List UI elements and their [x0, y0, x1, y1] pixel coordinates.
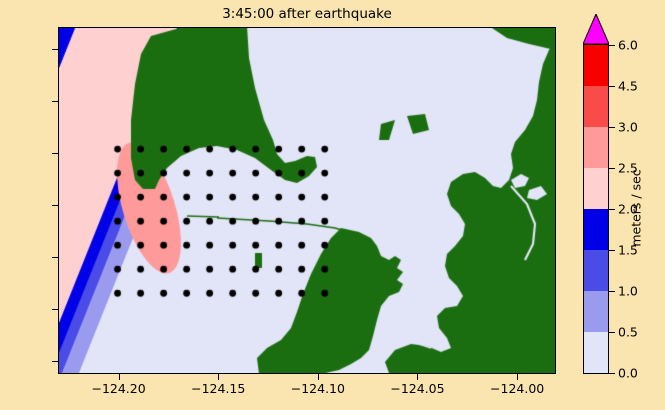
colorbar-tick-label: 0.0 [618, 366, 638, 381]
colorbar-band [584, 209, 608, 250]
colorbar-band [584, 45, 608, 86]
colorbar-tick-label: 4.5 [618, 79, 638, 94]
x-tick-label: −124.20 [91, 381, 145, 396]
y-tick-mark [52, 257, 58, 258]
colorbar-over-triangle-icon [583, 14, 609, 44]
x-tick-label: −124.10 [291, 381, 345, 396]
colorbar-tick-mark [609, 332, 615, 333]
y-tick-mark [52, 153, 58, 154]
colorbar-band [584, 86, 608, 127]
x-tick-mark [417, 374, 418, 380]
colorbar-band [584, 250, 608, 291]
colorbar-tick-mark [609, 209, 615, 210]
colorbar-tick-label: 1.0 [618, 284, 638, 299]
x-tick-mark [517, 374, 518, 380]
y-tick-mark [52, 205, 58, 206]
colorbar-band [584, 168, 608, 209]
page-title: 3:45:00 after earthquake [58, 4, 556, 24]
y-tick-mark [52, 101, 58, 102]
colorbar-tick-mark [609, 168, 615, 169]
y-tick-mark [52, 309, 58, 310]
tsunami-speed-map [59, 28, 555, 373]
colorbar-title: meters / sec [629, 169, 644, 246]
colorbar-tick-mark [609, 291, 615, 292]
x-tick-mark [119, 374, 120, 380]
colorbar-over-arrow [583, 14, 609, 44]
colorbar-tick-mark [609, 127, 615, 128]
colorbar-tick-mark [609, 45, 615, 46]
figure-canvas: 3:45:00 after earthquake 46.8646.8846.90… [0, 0, 665, 410]
x-tick-mark [218, 374, 219, 380]
y-tick-mark [52, 361, 58, 362]
colorbar-band [584, 127, 608, 168]
x-tick-label: −124.15 [191, 381, 245, 396]
x-tick-mark [318, 374, 319, 380]
colorbar-tick-label: 3.0 [618, 120, 638, 135]
y-tick-mark [52, 49, 58, 50]
map-axes[interactable] [58, 27, 556, 374]
colorbar-tick-label: 6.0 [618, 38, 638, 53]
colorbar[interactable] [583, 44, 609, 374]
colorbar-tick-label: 0.5 [618, 325, 638, 340]
x-tick-label: −124.00 [490, 381, 544, 396]
colorbar-tick-mark [609, 250, 615, 251]
colorbar-band [584, 332, 608, 373]
x-tick-label: −124.05 [390, 381, 444, 396]
colorbar-band [584, 291, 608, 332]
colorbar-tick-mark [609, 373, 615, 374]
colorbar-tick-mark [609, 86, 615, 87]
